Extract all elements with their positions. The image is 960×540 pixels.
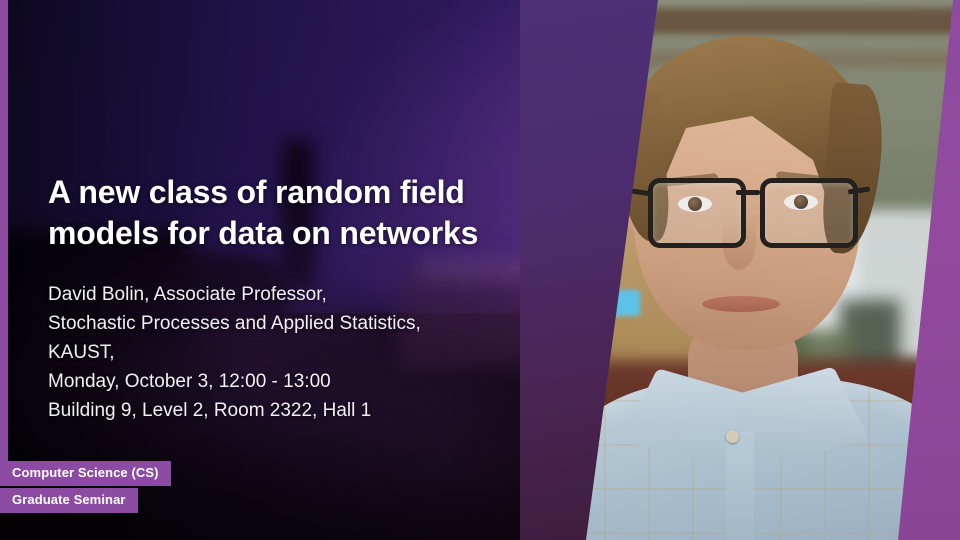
eyeglass-bridge <box>736 190 760 195</box>
eyeglasses-icon <box>648 178 856 244</box>
eyeglass-lens-right <box>760 178 858 248</box>
badge-department[interactable]: Computer Science (CS) <box>0 461 171 486</box>
speaker-chin <box>690 320 790 354</box>
badge-group: Computer Science (CS) Graduate Seminar <box>0 461 171 513</box>
seminar-title: A new class of random field models for d… <box>48 172 548 254</box>
badge-row: Graduate Seminar <box>0 488 171 513</box>
left-accent-stripe <box>0 0 8 468</box>
speaker-shirt-button <box>726 430 739 443</box>
speaker-mouth <box>702 296 780 312</box>
eyeglass-lens-left <box>648 178 746 248</box>
badge-event-type[interactable]: Graduate Seminar <box>0 488 138 513</box>
seminar-announcement-slide: A new class of random field models for d… <box>0 0 960 540</box>
seminar-details: David Bolin, Associate Professor, Stocha… <box>48 280 548 425</box>
speaker-shirt-placket <box>726 432 754 540</box>
badge-row: Computer Science (CS) <box>0 461 171 486</box>
slide-text-block: A new class of random field models for d… <box>48 172 548 425</box>
